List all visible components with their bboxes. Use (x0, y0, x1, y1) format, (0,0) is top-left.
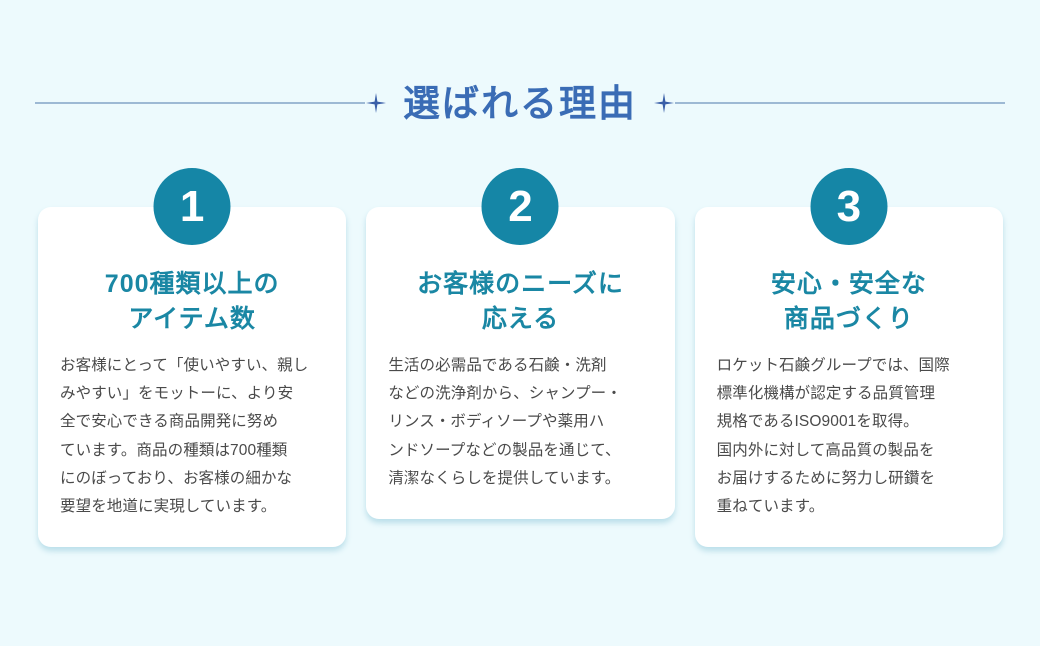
page-title: 選ばれる理由 (387, 85, 653, 122)
section-header: 選ばれる理由 (0, 72, 1040, 134)
sparkle-icon (653, 92, 675, 114)
card-title: お客様のニーズに 応える (388, 267, 652, 336)
reason-card-2: 2 お客様のニーズに 応える 生活の必需品である石鹸・洗剤 などの洗浄剤から、シ… (366, 207, 674, 547)
reason-card-1: 1 700種類以上の アイテム数 お客様にとって「使いやすい、親し みやすい」を… (38, 207, 346, 547)
heading-rule-right (675, 102, 1005, 104)
card-title: 安心・安全な 商品づくり (717, 267, 981, 336)
card-number-badge: 1 (154, 168, 231, 245)
card-number-badge: 2 (482, 168, 559, 245)
card-number-badge: 3 (810, 168, 887, 245)
card-description: お客様にとって「使いやすい、親し みやすい」をモットーに、より安 全で安心できる… (60, 352, 324, 521)
reason-card-list: 1 700種類以上の アイテム数 お客様にとって「使いやすい、親し みやすい」を… (38, 207, 1003, 547)
card-description: ロケット石鹸グループでは、国際 標準化機構が認定する品質管理 規格であるISO9… (717, 352, 981, 521)
reason-card-3: 3 安心・安全な 商品づくり ロケット石鹸グループでは、国際 標準化機構が認定す… (695, 207, 1003, 547)
card-body-panel: 安心・安全な 商品づくり ロケット石鹸グループでは、国際 標準化機構が認定する品… (695, 207, 1003, 547)
card-description: 生活の必需品である石鹸・洗剤 などの洗浄剤から、シャンプー・ リンス・ボディソー… (388, 352, 652, 493)
card-body-panel: お客様のニーズに 応える 生活の必需品である石鹸・洗剤 などの洗浄剤から、シャン… (366, 207, 674, 519)
card-title: 700種類以上の アイテム数 (60, 267, 324, 336)
heading-rule-left (35, 102, 365, 104)
sparkle-icon (365, 92, 387, 114)
card-body-panel: 700種類以上の アイテム数 お客様にとって「使いやすい、親し みやすい」をモッ… (38, 207, 346, 547)
